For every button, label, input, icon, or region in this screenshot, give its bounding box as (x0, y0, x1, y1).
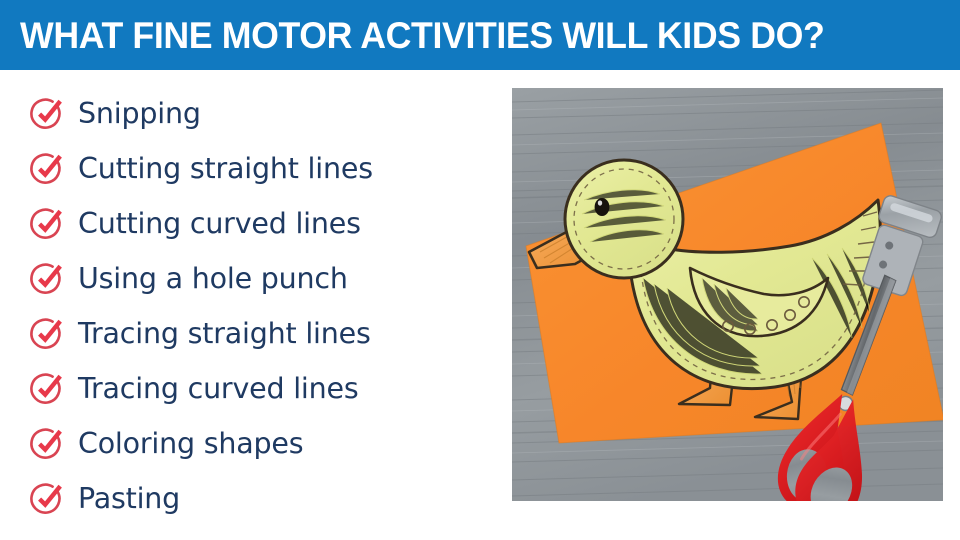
check-circle-icon (30, 152, 64, 186)
check-circle-icon (30, 317, 64, 351)
list-item-label: Cutting curved lines (78, 208, 361, 239)
list-item: Cutting curved lines (30, 196, 500, 251)
list-item: Tracing curved lines (30, 361, 500, 416)
list-item: Pasting (30, 471, 500, 526)
list-item-label: Coloring shapes (78, 428, 303, 459)
list-item-label: Tracing curved lines (78, 373, 359, 404)
list-item: Cutting straight lines (30, 141, 500, 196)
duck-craft-illustration (512, 88, 943, 501)
list-item-label: Tracing straight lines (78, 318, 371, 349)
list-item-label: Pasting (78, 483, 180, 514)
list-item: Tracing straight lines (30, 306, 500, 361)
check-circle-icon (30, 207, 64, 241)
list-item-label: Using a hole punch (78, 263, 348, 294)
check-circle-icon (30, 97, 64, 131)
list-item: Coloring shapes (30, 416, 500, 471)
check-circle-icon (30, 482, 64, 516)
duck-craft-photo (512, 88, 943, 501)
list-item: Snipping (30, 86, 500, 141)
list-item: Using a hole punch (30, 251, 500, 306)
list-item-label: Cutting straight lines (78, 153, 373, 184)
header-band: WHAT FINE MOTOR ACTIVITIES WILL KIDS DO? (0, 0, 960, 70)
check-circle-icon (30, 372, 64, 406)
list-item-label: Snipping (78, 98, 201, 129)
page-title: WHAT FINE MOTOR ACTIVITIES WILL KIDS DO? (20, 17, 824, 54)
check-circle-icon (30, 427, 64, 461)
check-circle-icon (30, 262, 64, 296)
activities-checklist: Snipping Cutting straight lines Cutting … (30, 86, 500, 526)
